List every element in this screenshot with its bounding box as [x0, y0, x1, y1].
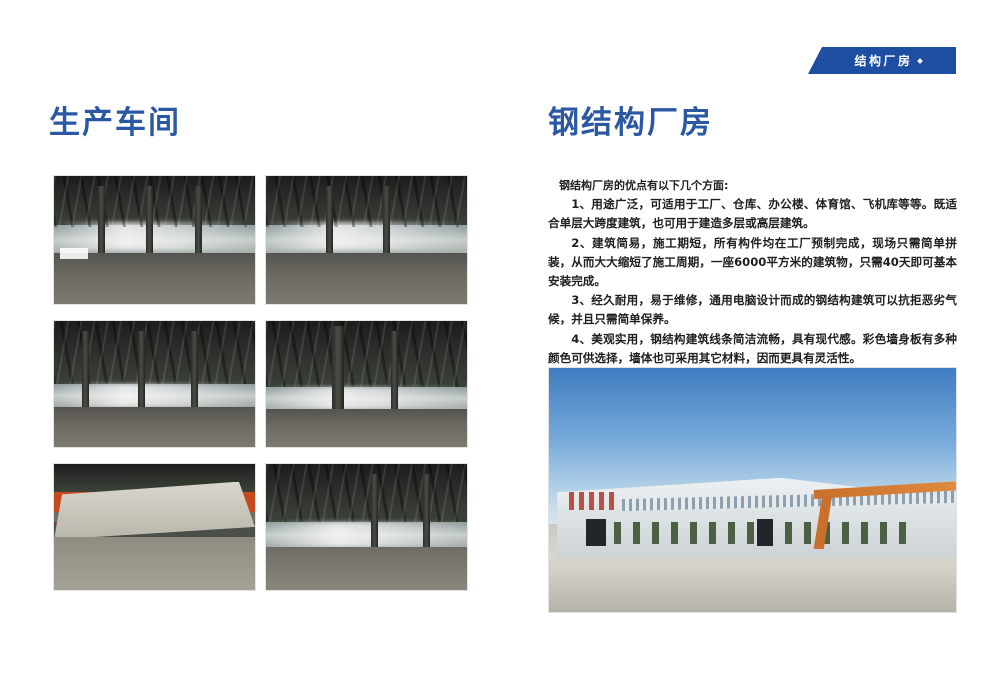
photo-light-glow: [266, 522, 467, 547]
feature-photo-steel-plant-exterior: [548, 367, 957, 613]
workshop-photo-6: [265, 463, 468, 591]
body-item-3: 3、经久耐用，易于维修，通用电脑设计而成的钢结构建筑可以抗拒恶劣气候，并且只需简…: [548, 291, 957, 329]
body-item-4: 4、美观实用，钢结构建筑线条简洁流畅，具有现代感。彩色墙身板有多种颜色可供选择，…: [548, 330, 957, 368]
photo-column: [332, 326, 344, 414]
photo-truss: [266, 176, 467, 227]
body-lead: 钢结构厂房的优点有以下几个方面:: [548, 176, 957, 195]
photo-column: [82, 331, 89, 414]
feature-door: [586, 519, 606, 546]
body-item-2: 2、建筑简易，施工期短，所有构件均在工厂预制完成，现场只需简单拼装，从而大大缩短…: [548, 234, 957, 292]
feature-ground-shade: [549, 568, 956, 612]
photo-floor: [266, 409, 467, 447]
workshop-photo-3: [53, 320, 256, 448]
photo-floor: [266, 253, 467, 304]
diamond-marker-icon: [917, 58, 923, 64]
body-item-1: 1、用途广泛，可适用于工厂、仓库、办公楼、体育馆、飞机库等等。既适合单层大跨度建…: [548, 195, 957, 233]
workshop-photo-2: [265, 175, 468, 305]
photo-floor: [266, 547, 467, 590]
workshop-photo-4: [265, 320, 468, 448]
workshop-photo-1: [53, 175, 256, 305]
ribbon-label: 结构厂房: [854, 55, 912, 67]
workshop-photo-5: [53, 463, 256, 591]
photo-window: [60, 248, 88, 260]
page-root: 结构厂房 生产车间 钢结构厂房: [0, 0, 1000, 674]
photo-truss: [54, 176, 255, 227]
photo-column: [423, 474, 430, 557]
photo-truss: [266, 464, 467, 524]
photo-floor: [54, 407, 255, 447]
photo-truss: [266, 321, 467, 389]
photo-floor: [54, 253, 255, 304]
feature-door: [757, 519, 773, 546]
photo-column: [191, 331, 198, 414]
photo-floor: [54, 537, 255, 590]
ribbon-inner: 结构厂房: [854, 55, 921, 67]
photo-light-glow: [266, 387, 467, 410]
photo-column: [391, 331, 398, 414]
feature-wall-sign: [569, 492, 618, 509]
photo-grid: [53, 175, 468, 591]
section-heading-steel-structure-plant: 钢结构厂房: [548, 108, 713, 139]
corner-ribbon: 结构厂房: [808, 47, 956, 74]
section-heading-production-workshop: 生产车间: [49, 108, 181, 139]
photo-column: [371, 474, 378, 557]
photo-column: [138, 331, 145, 414]
